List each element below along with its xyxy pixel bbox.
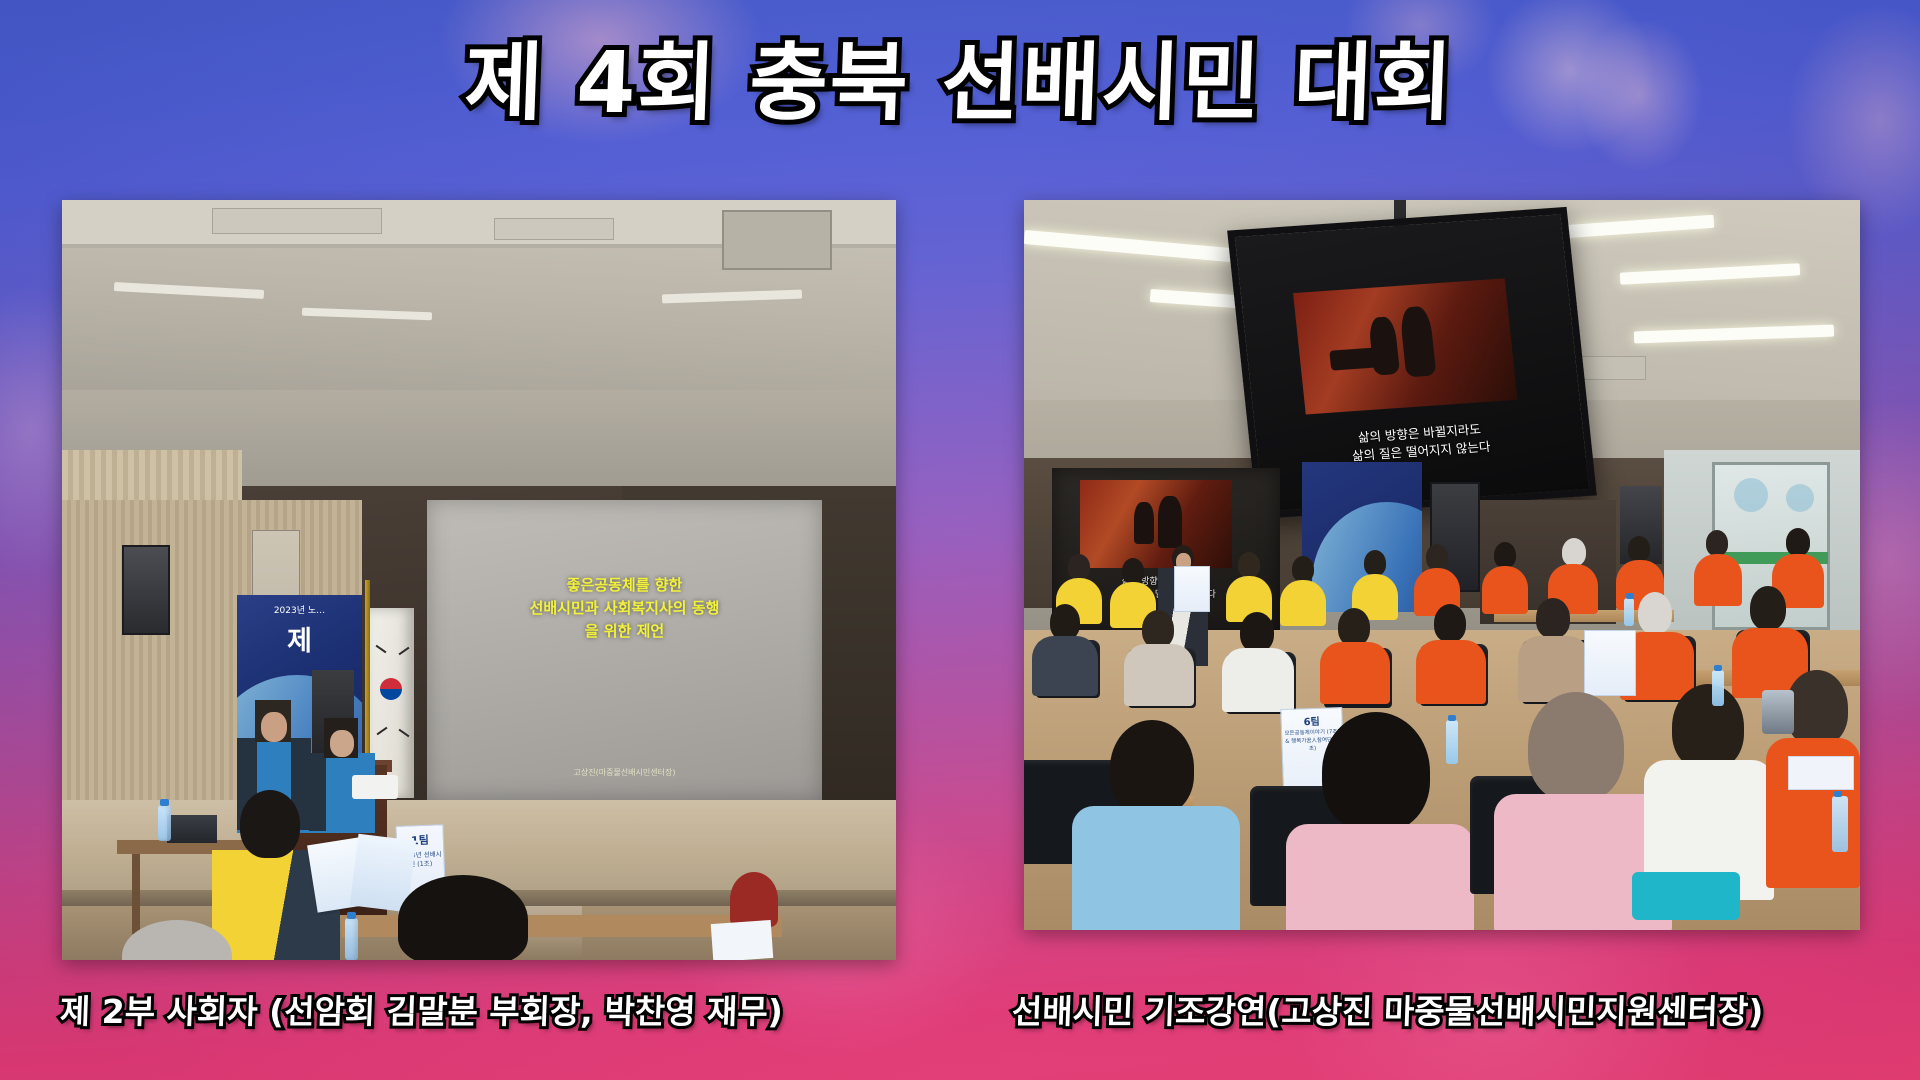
tv-video-frame <box>1293 278 1517 414</box>
slide-line-1: 좋은공동체를 향한 <box>427 574 822 597</box>
flag-trigram <box>399 647 410 656</box>
speaker-box-left <box>122 545 170 635</box>
attendee-body-yellow <box>1280 580 1326 626</box>
water-bottle <box>345 918 358 960</box>
attendee-body-orange <box>1482 566 1528 614</box>
photo-left-mc: 좋은공동체를 향한 선배시민과 사회복지사의 동행 을 위한 제언 고상진(마중… <box>62 200 896 960</box>
slide-line-3: 을 위한 제언 <box>427 620 822 643</box>
attendee-head-gray <box>1638 592 1672 634</box>
attendee-head <box>1750 586 1786 630</box>
slide-text: 좋은공동체를 향한 선배시민과 사회복지사의 동행 을 위한 제언 <box>427 574 822 643</box>
person-mc2-face <box>330 730 354 757</box>
bottle-cap <box>347 912 356 919</box>
teal-jacket-on-chair <box>1632 872 1740 920</box>
door-decal-circle <box>1734 478 1768 512</box>
attendee-head <box>1706 530 1728 556</box>
attendee-head <box>1050 604 1080 640</box>
laptop <box>167 815 217 843</box>
door-decal-circle <box>1786 484 1814 512</box>
table-leg <box>132 854 140 934</box>
caption-right: 선배시민 기조강연(고상진 마중물선배시민지원센터장) <box>1011 985 1764 1033</box>
photo-right-keynote: 삶의 방향은 바뀔지라도 삶의 질은 떨어지지 않는다 삶의 방향은 바뀔지라도… <box>1024 200 1860 930</box>
attendee-head <box>1536 598 1570 638</box>
flag-trigram <box>377 727 388 736</box>
attendee-body-pink <box>1286 824 1474 930</box>
water-bottle <box>1832 796 1848 852</box>
attendee-head <box>1494 542 1516 568</box>
banner-headline: 제 <box>237 619 362 658</box>
ceiling-vent <box>212 208 382 234</box>
attendee-head <box>1292 556 1314 582</box>
paper-cups <box>352 775 398 799</box>
presentation-slide: 제 4회 충북 선배시민 대회 좋은공동체를 향한 선배시민과 사회복지사의 동… <box>0 0 1920 1080</box>
person-mc1-face <box>261 712 287 742</box>
attendee-body-orange <box>1416 640 1486 704</box>
attendee-head <box>1110 720 1194 816</box>
attendee-head <box>1528 692 1624 802</box>
attendee-head <box>1628 536 1650 562</box>
ceiling-ac-unit <box>722 210 832 270</box>
table-sign <box>1584 630 1636 696</box>
water-bottle <box>1712 670 1724 706</box>
water-bottle <box>1624 598 1634 626</box>
water-bottle <box>158 805 171 841</box>
person-foreground-head <box>398 875 528 960</box>
attendee-body-orange <box>1320 642 1390 704</box>
attendee-head <box>1122 558 1144 584</box>
projection-screen: 좋은공동체를 향한 선배시민과 사회복지사의 동행 을 위한 제언 고상진(마중… <box>427 500 822 800</box>
flag-trigram <box>399 729 410 738</box>
handout-paper <box>1788 756 1854 790</box>
projection-video-frame <box>1080 480 1232 568</box>
attendee-body-orange <box>1694 554 1742 606</box>
table-sign <box>1174 566 1210 612</box>
attendee-head <box>1426 544 1448 570</box>
attendee-head-gray <box>1562 538 1586 566</box>
tv-table <box>1329 347 1383 371</box>
attendee-head <box>1068 554 1090 580</box>
attendee-body <box>1032 636 1098 696</box>
attendee-body-lightblue <box>1072 806 1240 930</box>
person-yellow-jacket-head <box>240 790 300 858</box>
person-mc2-vest-left <box>309 753 326 831</box>
projection-figure <box>1158 496 1182 548</box>
floor-paper <box>711 920 774 960</box>
attendee-head <box>1142 610 1174 648</box>
banner-year: 2023년 노… <box>237 603 362 616</box>
ceiling-ac-vent <box>1580 356 1646 380</box>
flag-trigram <box>376 645 387 654</box>
attendee-head <box>1338 608 1370 646</box>
attendee-head <box>1786 528 1810 556</box>
slide-title-bar: 제 4회 충북 선배시민 대회 <box>0 14 1920 137</box>
attendee-head <box>1322 712 1430 832</box>
attendee-body <box>1124 644 1194 706</box>
attendee-head <box>1434 604 1466 642</box>
attendee-head <box>1238 552 1260 578</box>
table-sign-number: 6팀 <box>1281 712 1341 729</box>
attendee-head <box>1240 612 1274 652</box>
attendee-head <box>1364 550 1386 576</box>
caption-left: 제 2부 사회자 (선암회 김말분 부회장, 박찬영 재무) <box>59 985 784 1033</box>
water-bottle <box>1446 720 1458 764</box>
attendee-head <box>1786 670 1848 746</box>
ceiling-vent <box>494 218 614 240</box>
attendee-head <box>1672 684 1744 770</box>
taegeuk-circle <box>380 678 402 700</box>
red-chair-back <box>730 872 778 927</box>
attendee-body <box>1222 648 1294 712</box>
page-title: 제 4회 충북 선배시민 대회 <box>463 14 1457 137</box>
slide-credit: 고상진(마중물선배시민센터장) <box>427 767 822 778</box>
tv-figure <box>1399 306 1436 378</box>
tumbler <box>1762 690 1794 734</box>
slide-line-2: 선배시민과 사회복지사의 동행 <box>427 597 822 620</box>
bottle-cap <box>160 799 169 806</box>
projection-figure <box>1134 502 1154 544</box>
